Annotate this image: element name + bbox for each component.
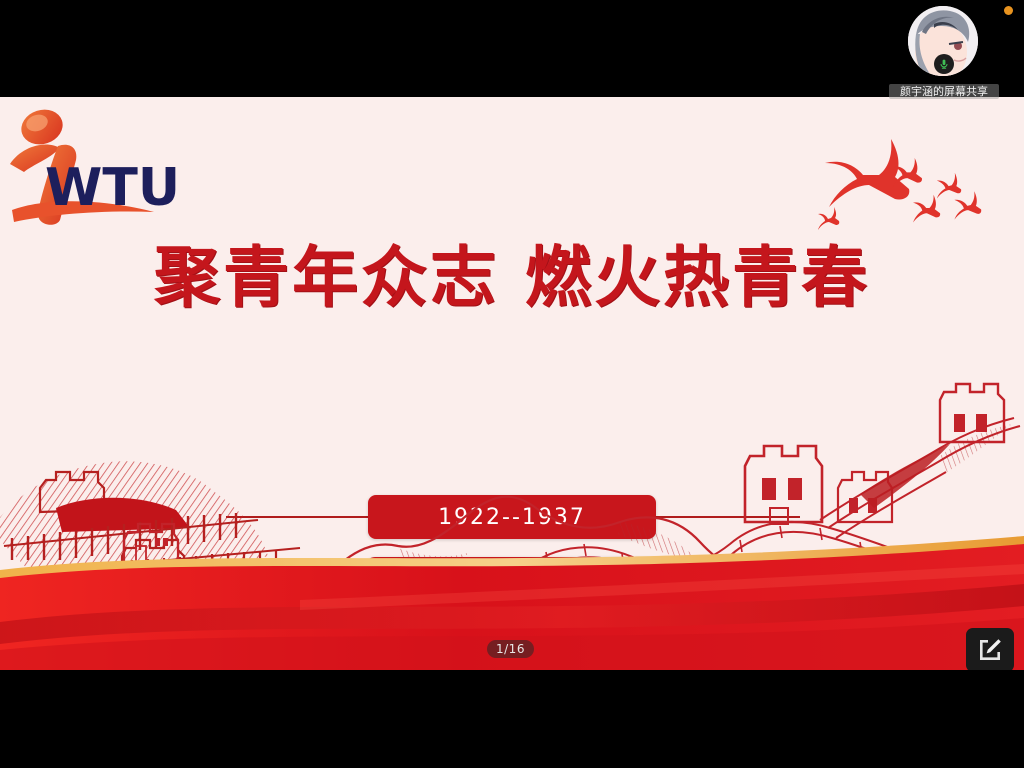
mic-active-badge	[934, 54, 954, 74]
pen-icon	[977, 637, 1003, 663]
screen-share-viewport: WTU 聚青年众志 燃火热青春 1922--19	[0, 0, 1024, 768]
bottom-letterbox-bar	[0, 670, 1024, 768]
slide-title: 聚青年众志 燃火热青春	[0, 245, 1024, 311]
top-letterbox-bar: 颜宇涵的屏幕共享	[0, 0, 1024, 97]
annotate-button[interactable]	[966, 628, 1014, 672]
presentation-slide[interactable]: WTU 聚青年众志 燃火热青春 1922--19	[0, 97, 1024, 670]
screen-share-label: 颜宇涵的屏幕共享	[889, 84, 999, 99]
recording-indicator-dot	[1004, 6, 1013, 15]
slide-counter: 1/16	[487, 640, 534, 658]
participant-avatar-wrapper[interactable]	[908, 6, 978, 76]
microphone-icon	[938, 58, 950, 70]
flying-birds-graphic	[795, 127, 1020, 232]
logo-wordmark: WTU	[45, 158, 179, 218]
wtu-logo: WTU	[4, 102, 179, 227]
